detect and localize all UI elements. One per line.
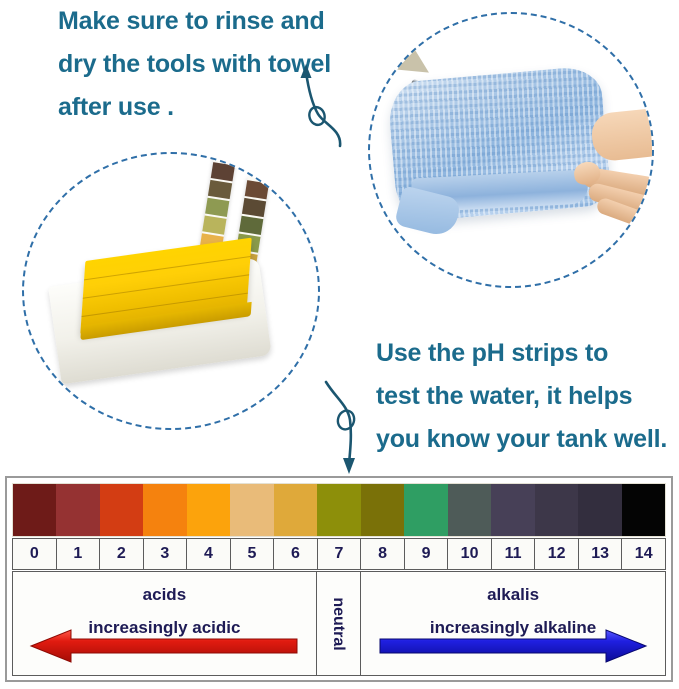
ph-swatch-0: [13, 484, 56, 536]
ph-zone-neutral: neutral: [317, 572, 361, 675]
ph-swatch-10: [448, 484, 491, 536]
ph-number-10: 10: [448, 539, 492, 569]
acid-arrow-wrap: [13, 629, 316, 663]
ph-number-8: 8: [361, 539, 405, 569]
arrow-left-icon: [29, 629, 299, 663]
ph-number-9: 9: [405, 539, 449, 569]
towel-drying-photo: [370, 14, 652, 286]
ph-number-7: 7: [318, 539, 362, 569]
ph-swatch-3: [143, 484, 186, 536]
ph-swatch-14: [622, 484, 665, 536]
ph-zone-acids: acids increasingly acidic: [13, 572, 317, 675]
ph-number-4: 4: [187, 539, 231, 569]
ph-swatch-13: [578, 484, 621, 536]
ph-swatch-11: [491, 484, 534, 536]
ph-number-14: 14: [622, 539, 665, 569]
ph-scale-chart: 0 1 2 3 4 5 6 7 8 9 10 11 12 13 14 acids…: [5, 476, 673, 682]
ph-number-0: 0: [13, 539, 57, 569]
ph-zone-alkalis: alkalis increasingly alkaline: [361, 572, 665, 675]
ph-number-12: 12: [535, 539, 579, 569]
ph-number-5: 5: [231, 539, 275, 569]
ph-swatch-1: [56, 484, 99, 536]
ph-number-3: 3: [144, 539, 188, 569]
ph-number-row: 0 1 2 3 4 5 6 7 8 9 10 11 12 13 14: [12, 538, 666, 570]
photo-circle-ph-strips: [22, 152, 320, 430]
ph-color-band: [12, 483, 666, 537]
ph-swatch-4: [187, 484, 230, 536]
ph-number-1: 1: [57, 539, 101, 569]
ph-swatch-6: [274, 484, 317, 536]
arrow-right-icon: [378, 629, 648, 663]
ph-zone-acids-title: acids: [143, 585, 186, 605]
curved-arrow-up-icon: [280, 58, 360, 155]
ph-swatch-5: [230, 484, 273, 536]
ph-number-6: 6: [274, 539, 318, 569]
ph-zone-neutral-label: neutral: [329, 597, 347, 650]
instruction-text-ph-strips: Use the pH strips to test the water, it …: [376, 332, 676, 461]
ph-number-2: 2: [100, 539, 144, 569]
photo-circle-towel: [368, 12, 654, 288]
ph-swatch-2: [100, 484, 143, 536]
ph-number-13: 13: [579, 539, 623, 569]
alkali-arrow-wrap: [361, 629, 665, 663]
ph-swatch-9: [404, 484, 447, 536]
ph-strips-photo: [24, 154, 318, 428]
ph-zone-row: acids increasingly acidic: [12, 571, 666, 676]
ph-number-11: 11: [492, 539, 536, 569]
ph-swatch-8: [361, 484, 404, 536]
poster-canvas: Make sure to rinse and dry the tools wit…: [0, 0, 679, 689]
ph-swatch-7: [317, 484, 360, 536]
ph-swatch-12: [535, 484, 578, 536]
ph-zone-alkalis-title: alkalis: [487, 585, 539, 605]
